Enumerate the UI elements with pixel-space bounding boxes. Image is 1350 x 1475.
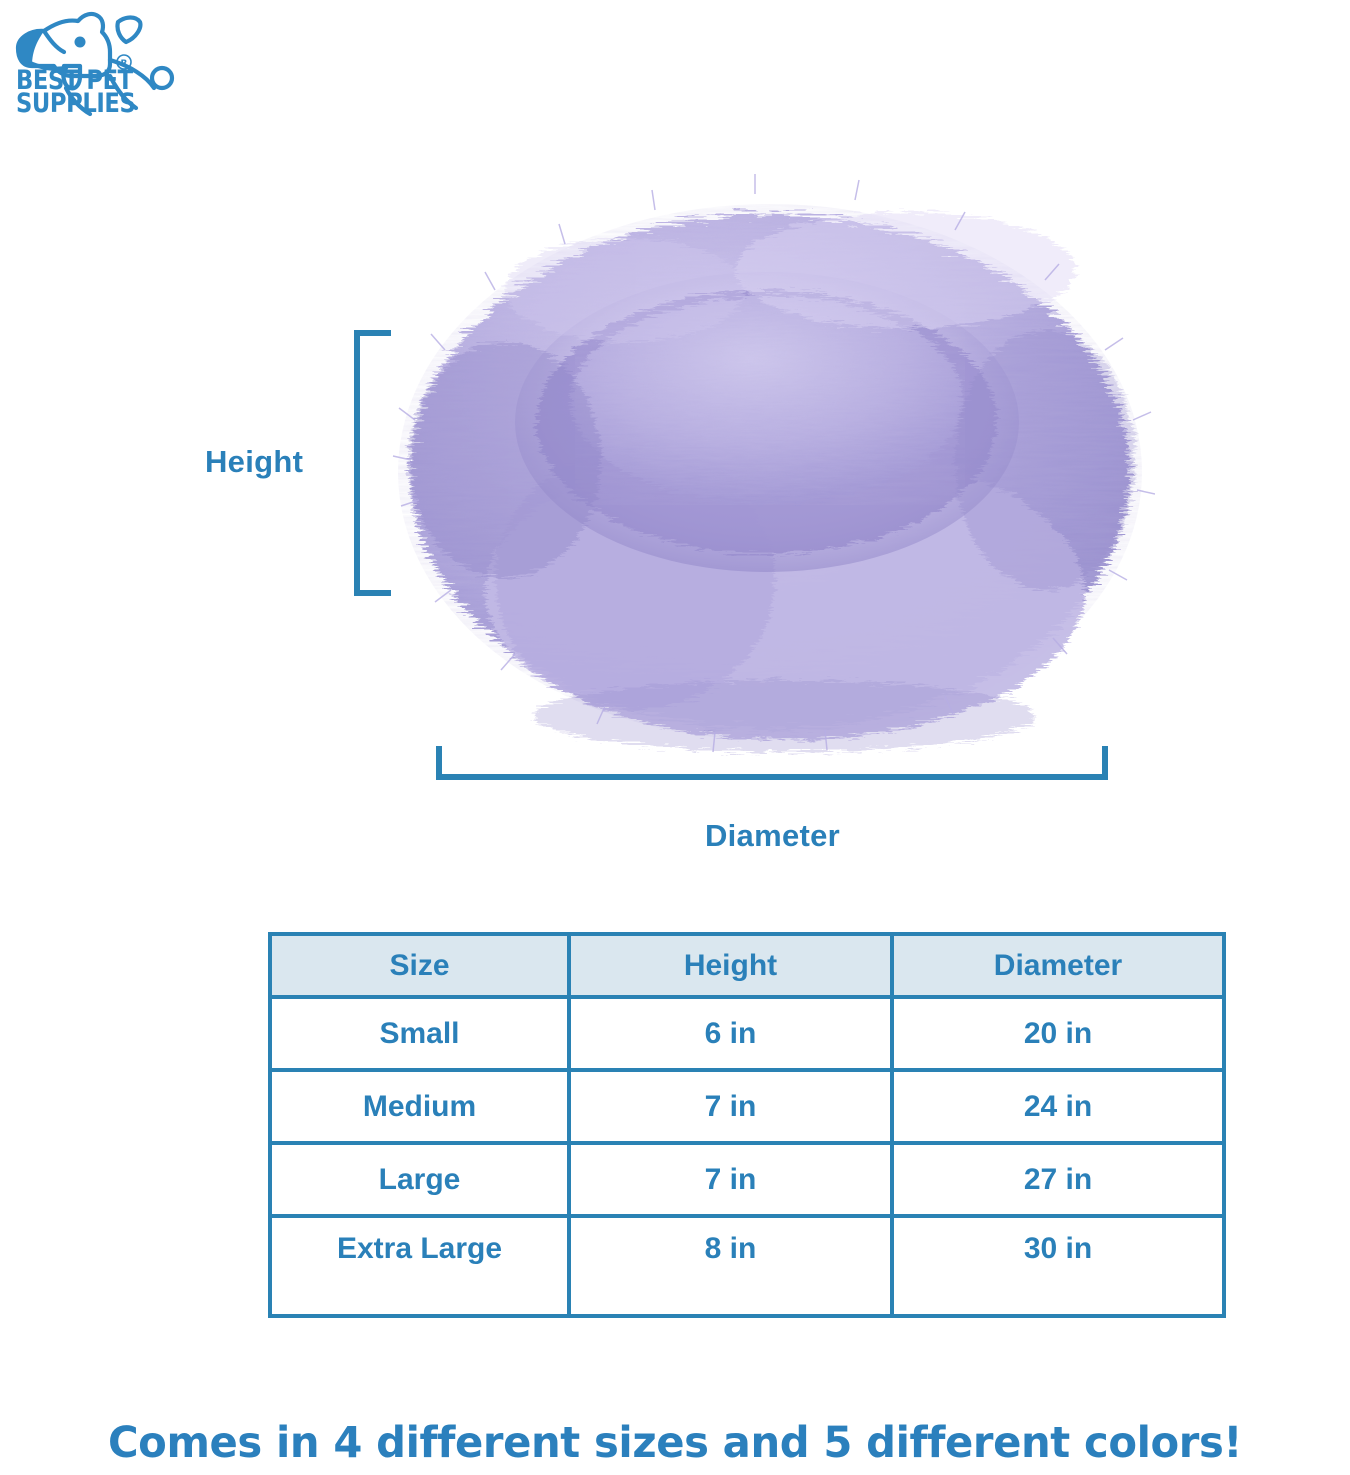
table-row: Large 7 in 27 in <box>270 1143 1224 1216</box>
height-bracket <box>352 330 392 596</box>
cell-diameter: 27 in <box>892 1143 1224 1216</box>
brand-logo: R BEST PET SUPPLIES <box>6 4 176 132</box>
brand-wordmark: BEST PET SUPPLIES <box>16 70 166 115</box>
dog-eye-icon <box>75 37 86 48</box>
footer-tagline: Comes in 4 different sizes and 5 differe… <box>20 1418 1330 1468</box>
cell-size: Small <box>270 997 569 1070</box>
cell-height: 7 in <box>569 1143 892 1216</box>
cell-size: Large <box>270 1143 569 1216</box>
cell-height: 7 in <box>569 1070 892 1143</box>
cell-diameter: 20 in <box>892 997 1224 1070</box>
cell-size: Medium <box>270 1070 569 1143</box>
brand-wordmark-line-2: SUPPLIES <box>16 93 142 116</box>
table-header-row: Size Height Diameter <box>270 934 1224 997</box>
table-row: Extra Large 8 in 30 in <box>270 1216 1224 1316</box>
size-chart-table: Size Height Diameter Small 6 in 20 in Me… <box>268 932 1226 1318</box>
diameter-callout-label: Diameter <box>0 818 1350 854</box>
table-row: Small 6 in 20 in <box>270 997 1224 1070</box>
diameter-bracket <box>436 746 1108 782</box>
cell-height: 6 in <box>569 997 892 1070</box>
cell-height: 8 in <box>569 1216 892 1316</box>
column-header-diameter: Diameter <box>892 934 1224 997</box>
cell-diameter: 30 in <box>892 1216 1224 1316</box>
cell-size: Extra Large <box>270 1216 569 1316</box>
column-header-height: Height <box>569 934 892 997</box>
height-callout-label: Height <box>205 444 335 480</box>
table-row: Medium 7 in 24 in <box>270 1070 1224 1143</box>
cell-diameter: 24 in <box>892 1070 1224 1143</box>
column-header-size: Size <box>270 934 569 997</box>
product-image-pet-bed <box>385 160 1155 770</box>
